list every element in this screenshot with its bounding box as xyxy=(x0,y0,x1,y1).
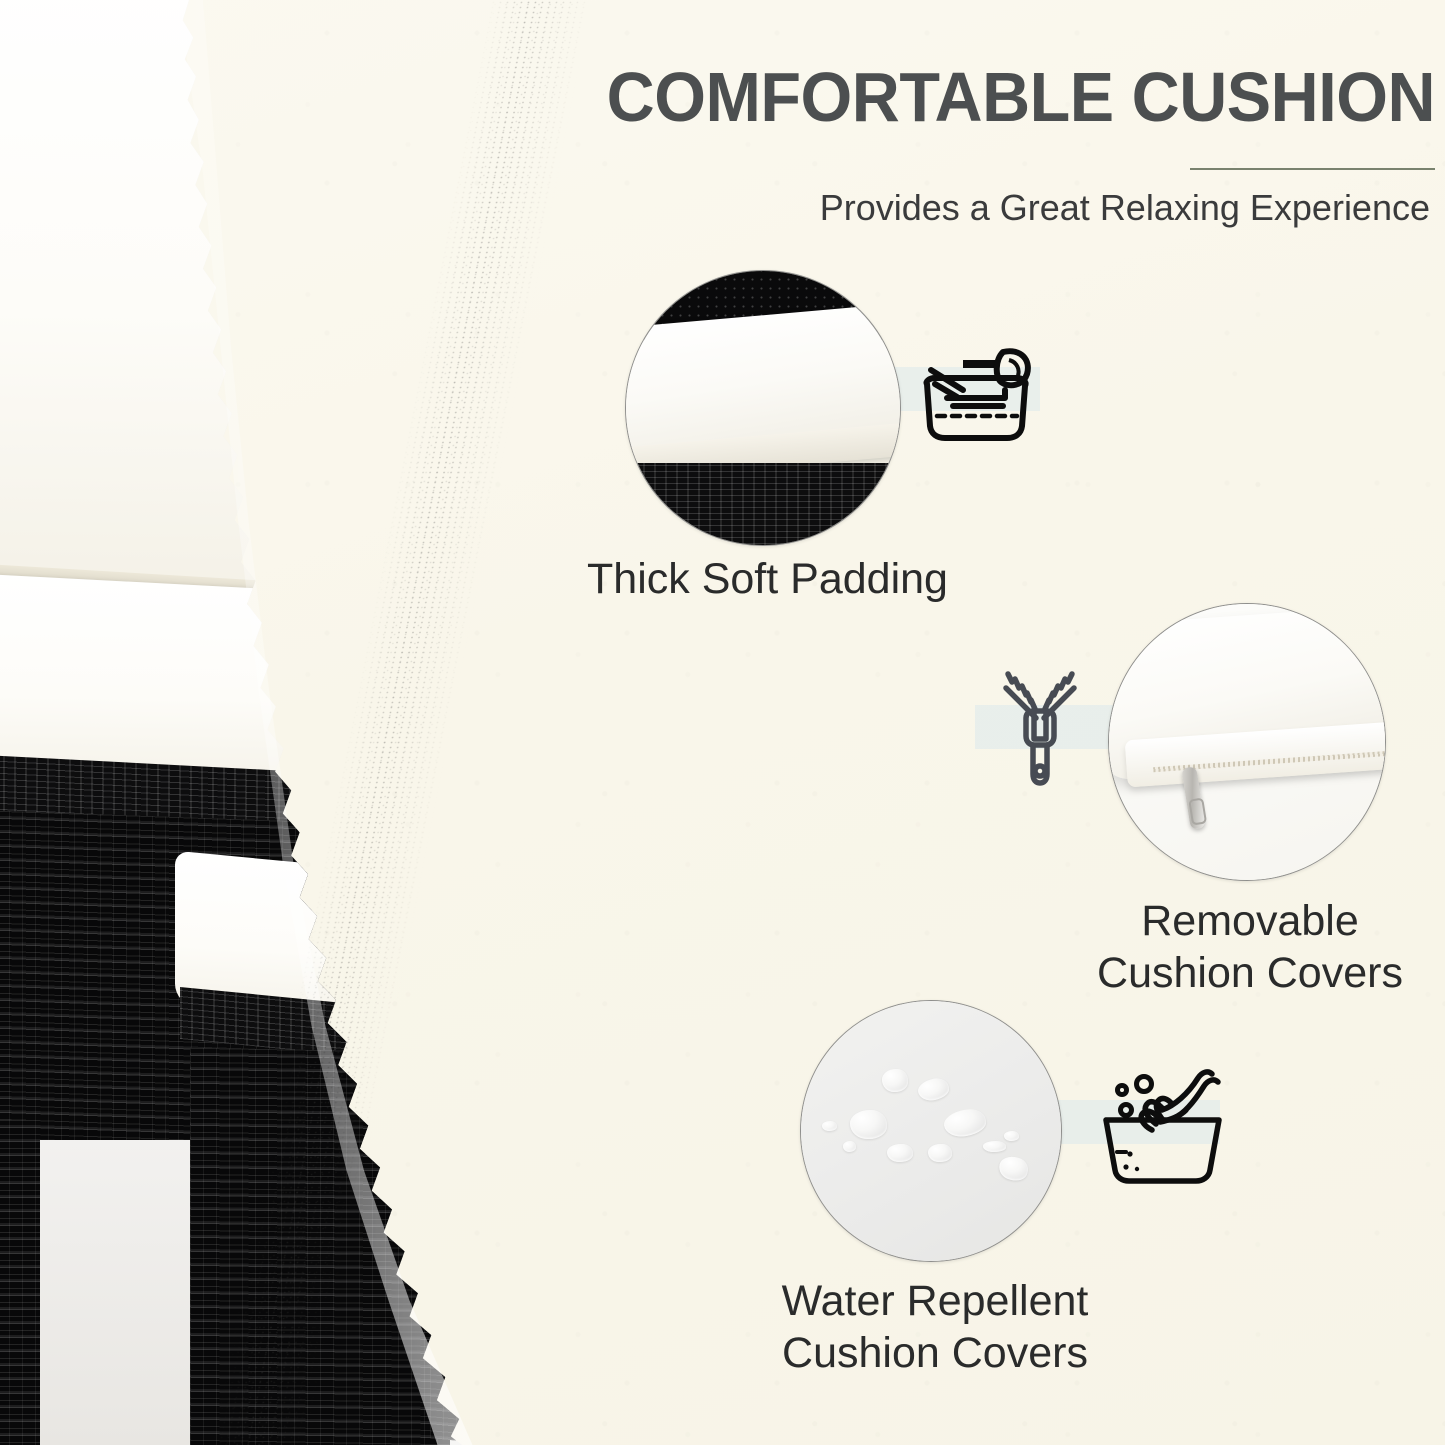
water-photo-fabric xyxy=(801,1001,1061,1261)
page-title: COMFORTABLE CUSHION xyxy=(518,62,1435,132)
water-droplet xyxy=(850,1110,886,1139)
chair-front-leg xyxy=(0,1120,40,1445)
water-droplet xyxy=(983,1141,1006,1151)
feature-2-photo-zipper-cover xyxy=(1108,603,1386,881)
feature-1-photo-thick-padding xyxy=(625,270,901,546)
content-column: COMFORTABLE CUSHION Provides a Great Rel… xyxy=(470,0,1445,1445)
water-droplet xyxy=(843,1141,856,1151)
infographic-canvas: COMFORTABLE CUSHION Provides a Great Rel… xyxy=(0,0,1445,1445)
title-divider xyxy=(1190,168,1435,170)
feature-1-caption: Thick Soft Padding xyxy=(510,553,1025,605)
water-droplet xyxy=(928,1144,951,1162)
ottoman-leg-gap xyxy=(40,1140,190,1445)
zipper-icon xyxy=(1000,662,1080,794)
feature-3-caption: Water Repellent Cushion Covers xyxy=(725,1275,1145,1380)
water-droplet xyxy=(887,1144,913,1162)
hand-press-cushion-icon xyxy=(917,340,1035,446)
feature-3-photo-water-beads xyxy=(800,1000,1062,1262)
water-droplet xyxy=(882,1069,908,1092)
page-subtitle: Provides a Great Relaxing Experience xyxy=(470,186,1430,229)
padding-photo-rattan-bottom xyxy=(625,463,901,546)
feature-2-caption: Removable Cushion Covers xyxy=(1055,895,1445,1000)
water-droplet xyxy=(822,1121,838,1131)
hand-wash-basin-icon xyxy=(1100,1058,1225,1188)
